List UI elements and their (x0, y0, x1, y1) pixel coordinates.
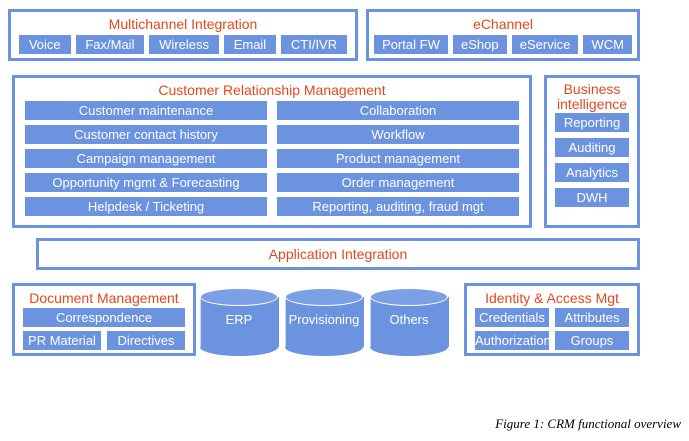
cylinder-top-icon (200, 288, 278, 306)
identity-access-management-title: Identity & Access Mgt (467, 286, 637, 307)
chip-order-management[interactable]: Order management (277, 173, 519, 192)
chip-campaign-management[interactable]: Campaign management (25, 149, 267, 168)
chip-customer-maintenance[interactable]: Customer maintenance (25, 101, 267, 120)
echannel-panel: eChannel Portal FW eShop eService WCM (366, 9, 640, 61)
chip-auditing[interactable]: Auditing (555, 138, 629, 157)
chip-authorization[interactable]: Authorization (475, 331, 549, 350)
chip-helpdesk-ticketing[interactable]: Helpdesk / Ticketing (25, 197, 267, 216)
datastore-provisioning[interactable]: Provisioning (285, 288, 363, 356)
document-management-title: Document Management (15, 286, 193, 307)
identity-access-management-panel: Identity & Access Mgt Credentials Attrib… (464, 283, 640, 356)
chip-dwh[interactable]: DWH (555, 188, 629, 207)
chip-wireless[interactable]: Wireless (149, 35, 219, 54)
chip-credentials[interactable]: Credentials (475, 308, 549, 327)
chip-pr-material[interactable]: PR Material (23, 331, 101, 350)
cylinder-top-icon (285, 288, 363, 306)
crm-columns: Customer maintenance Customer contact hi… (15, 101, 529, 221)
document-management-items: Correspondence PR Material Directives (15, 308, 193, 354)
chip-groups[interactable]: Groups (555, 331, 629, 350)
chip-collaboration[interactable]: Collaboration (277, 101, 519, 120)
chip-reporting-auditing-fraud-mgt[interactable]: Reporting, auditing, fraud mgt (277, 197, 519, 216)
chip-voice[interactable]: Voice (19, 35, 71, 54)
datastore-others[interactable]: Others (370, 288, 448, 356)
chip-attributes[interactable]: Attributes (555, 308, 629, 327)
application-integration-panel: Application Integration (36, 238, 640, 270)
crm-left-column: Customer maintenance Customer contact hi… (25, 101, 267, 221)
chip-eservice[interactable]: eService (512, 35, 579, 54)
datastore-others-label: Others (370, 312, 448, 327)
chip-product-management[interactable]: Product management (277, 149, 519, 168)
datastore-provisioning-label: Provisioning (285, 312, 363, 327)
multichannel-integration-title: Multichannel Integration (11, 12, 355, 33)
chip-workflow[interactable]: Workflow (277, 125, 519, 144)
chip-opportunity-mgmt-forecasting[interactable]: Opportunity mgmt & Forecasting (25, 173, 267, 192)
chip-wcm[interactable]: WCM (583, 35, 632, 54)
chip-correspondence[interactable]: Correspondence (23, 308, 185, 327)
crm-title: Customer Relationship Management (15, 78, 529, 99)
identity-access-row-1: Credentials Attributes (475, 308, 629, 327)
multichannel-integration-panel: Multichannel Integration Voice Fax/Mail … (8, 9, 358, 61)
customer-relationship-management-panel: Customer Relationship Management Custome… (12, 75, 532, 228)
business-intelligence-panel: Business intelligence Reporting Auditing… (544, 75, 640, 228)
multichannel-integration-items: Voice Fax/Mail Wireless Email CTI/IVR (11, 35, 355, 54)
datastore-erp-label: ERP (200, 312, 278, 327)
crm-right-column: Collaboration Workflow Product managemen… (277, 101, 519, 221)
chip-portal-fw[interactable]: Portal FW (374, 35, 448, 54)
business-intelligence-items: Reporting Auditing Analytics DWH (547, 113, 637, 207)
identity-access-row-2: Authorization Groups (475, 331, 629, 350)
echannel-items: Portal FW eShop eService WCM (369, 35, 637, 54)
chip-email[interactable]: Email (224, 35, 276, 54)
document-management-item-pair: PR Material Directives (23, 331, 185, 354)
chip-directives[interactable]: Directives (107, 331, 185, 350)
chip-analytics[interactable]: Analytics (555, 163, 629, 182)
datastore-erp[interactable]: ERP (200, 288, 278, 356)
identity-access-management-items: Credentials Attributes Authorization Gro… (467, 308, 637, 350)
chip-reporting[interactable]: Reporting (555, 113, 629, 132)
application-integration-title: Application Integration (39, 241, 637, 263)
chip-cti-ivr[interactable]: CTI/IVR (281, 35, 347, 54)
document-management-panel: Document Management Correspondence PR Ma… (12, 283, 196, 356)
cylinder-top-icon (370, 288, 448, 306)
chip-fax-mail[interactable]: Fax/Mail (76, 35, 145, 54)
echannel-title: eChannel (369, 12, 637, 33)
figure-caption: Figure 1: CRM functional overview (0, 416, 681, 432)
chip-eshop[interactable]: eShop (453, 35, 507, 54)
business-intelligence-title: Business intelligence (547, 78, 637, 112)
chip-customer-contact-history[interactable]: Customer contact history (25, 125, 267, 144)
